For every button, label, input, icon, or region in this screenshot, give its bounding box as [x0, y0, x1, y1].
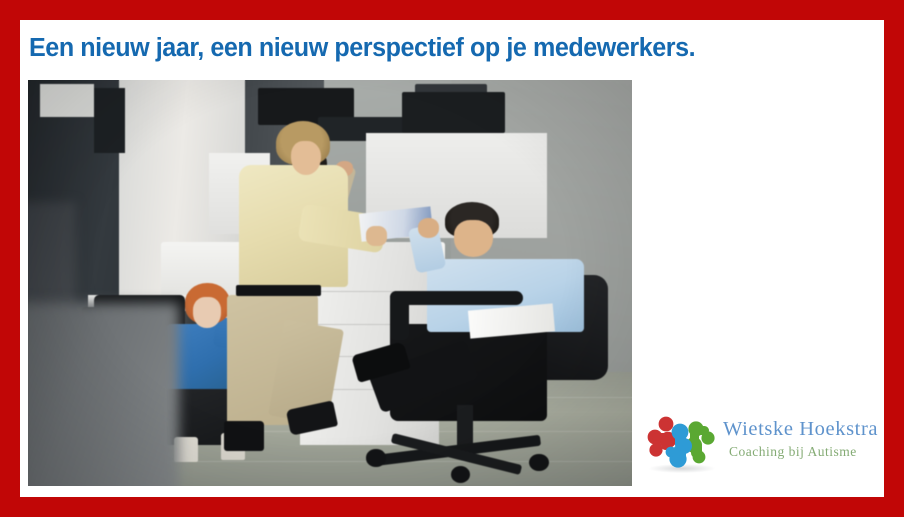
office-chair-wheel	[366, 449, 385, 466]
page-title: Een nieuw jaar, een nieuw perspectief op…	[29, 28, 866, 68]
wall-monitor	[94, 88, 124, 153]
man-yellow-boot-left	[224, 421, 263, 451]
promo-banner: Een nieuw jaar, een nieuw perspectief op…	[0, 0, 904, 517]
office-chair-wheel	[529, 454, 548, 471]
man-blue-hand	[418, 218, 440, 238]
logo-wordmark: Wietske Hoekstra Coaching bij Autisme	[723, 416, 878, 461]
puzzle-molecule-icon	[647, 412, 715, 474]
logo-title: Wietske Hoekstra	[723, 416, 878, 442]
office-printer	[402, 92, 505, 133]
office-chair-right-arm-post	[390, 291, 408, 340]
man-yellow-hand	[366, 226, 387, 246]
brand-logo[interactable]: Wietske Hoekstra Coaching bij Autisme	[645, 410, 877, 482]
office-scene	[28, 80, 632, 486]
man-yellow-face	[291, 141, 321, 176]
man-yellow-belt	[236, 285, 321, 296]
woman-blue-face	[193, 297, 221, 327]
office-chair-right-armrest	[390, 291, 523, 305]
foreground-blur-desk	[28, 303, 179, 486]
hero-photo	[28, 80, 632, 486]
ceiling-fixture	[40, 84, 94, 116]
man-blue-face	[454, 220, 493, 257]
banner-content-area: Een nieuw jaar, een nieuw perspectief op…	[20, 20, 884, 497]
office-chair-wheel	[451, 466, 470, 483]
logo-tagline: Coaching bij Autisme	[729, 443, 878, 461]
